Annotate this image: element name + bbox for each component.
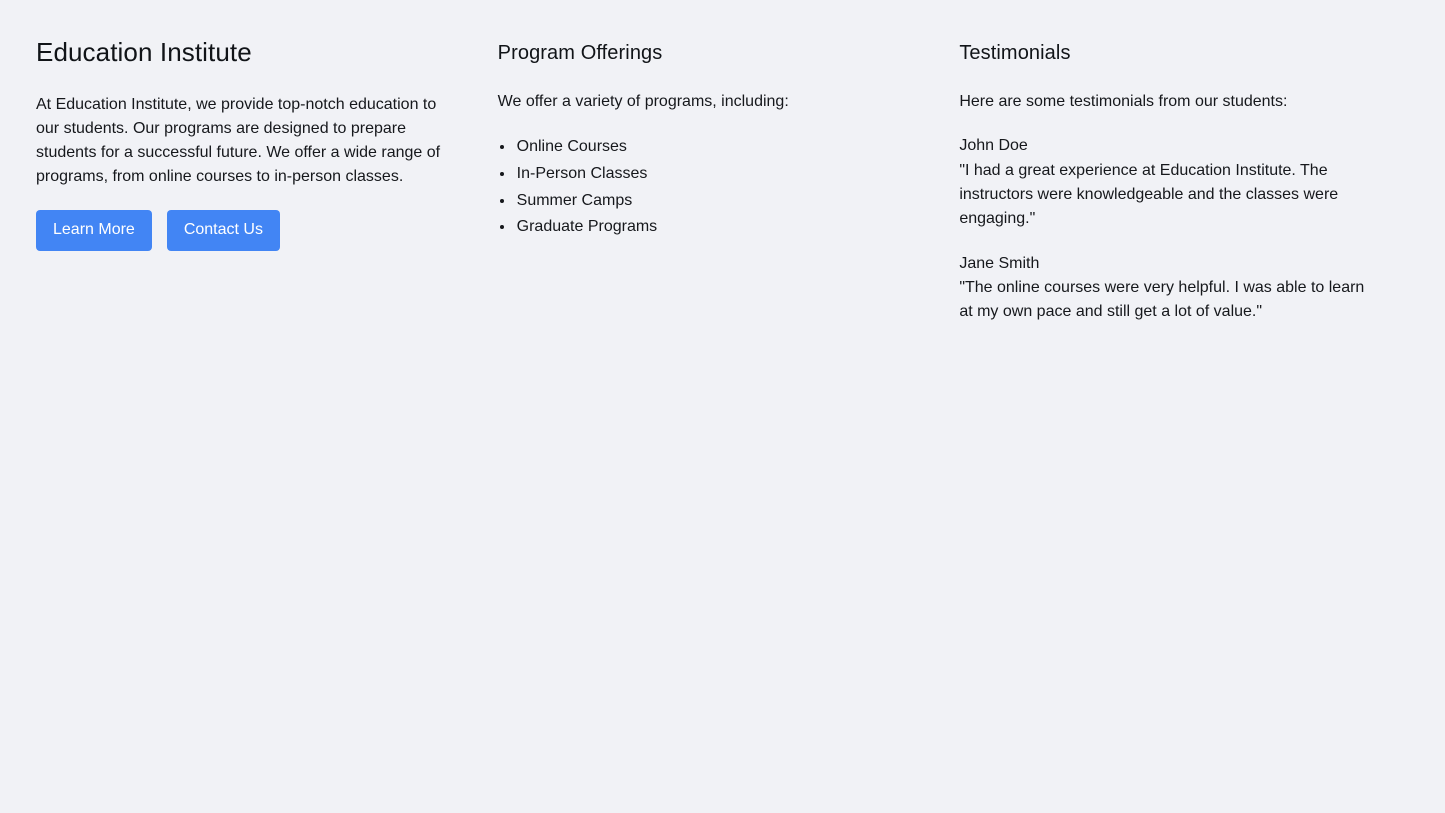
testimonial-quote: "The online courses were very helpful. I… [959, 276, 1369, 325]
page-root: Education Institute At Education Institu… [0, 0, 1445, 813]
programs-intro: We offer a variety of programs, includin… [498, 90, 898, 114]
contact-us-button[interactable]: Contact Us [167, 210, 280, 251]
three-column-layout: Education Institute At Education Institu… [30, 36, 1415, 325]
testimonial-author: Jane Smith [959, 252, 1369, 276]
page-title: Education Institute [36, 36, 486, 69]
testimonial-author: John Doe [959, 134, 1369, 158]
program-list: Online Courses In-Person Classes Summer … [498, 134, 948, 241]
list-item: Online Courses [515, 134, 948, 161]
learn-more-button[interactable]: Learn More [36, 210, 152, 251]
list-item: Graduate Programs [515, 214, 948, 241]
testimonials-column: Testimonials Here are some testimonials … [953, 36, 1415, 325]
cta-button-row: Learn More Contact Us [36, 210, 486, 251]
testimonial-item: Jane Smith "The online courses were very… [959, 252, 1369, 325]
list-item: In-Person Classes [515, 161, 948, 188]
testimonials-title: Testimonials [959, 40, 1409, 66]
programs-title: Program Offerings [498, 40, 948, 66]
testimonial-item: John Doe "I had a great experience at Ed… [959, 134, 1369, 231]
testimonial-quote: "I had a great experience at Education I… [959, 159, 1369, 232]
about-paragraph: At Education Institute, we provide top-n… [36, 93, 456, 190]
testimonials-intro: Here are some testimonials from our stud… [959, 90, 1359, 114]
about-column: Education Institute At Education Institu… [30, 36, 492, 251]
list-item: Summer Camps [515, 188, 948, 215]
programs-column: Program Offerings We offer a variety of … [492, 36, 954, 241]
